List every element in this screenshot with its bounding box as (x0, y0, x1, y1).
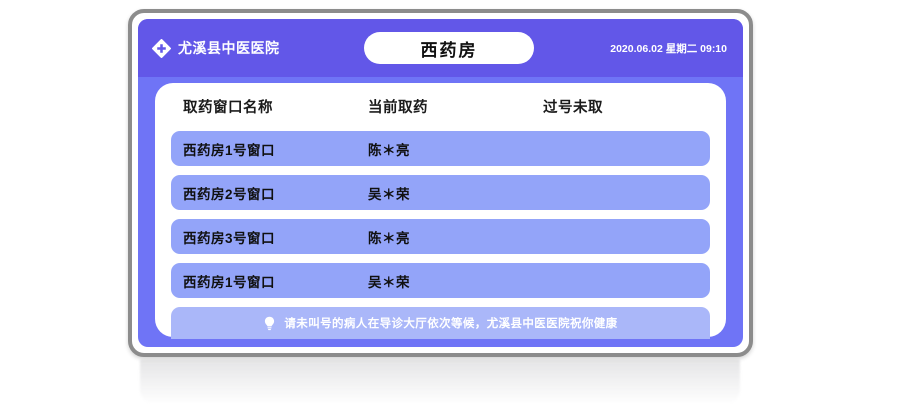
cell-window: 西药房2号窗口 (183, 183, 368, 203)
cell-current: 吴＊荣 (368, 271, 543, 291)
table-row: 西药房2号窗口 吴＊荣 (171, 175, 710, 210)
cell-window: 西药房3号窗口 (183, 227, 368, 247)
light-bulb-icon (263, 316, 276, 331)
table-row: 西药房1号窗口 吴＊荣 (171, 263, 710, 298)
cell-window: 西药房1号窗口 (183, 271, 368, 291)
column-header-missed: 过号未取 (543, 96, 698, 117)
footer-notice-bar: 请未叫号的病人在导诊大厅依次等候，尤溪县中医医院祝你健康 (171, 307, 710, 339)
queue-rows-list: 西药房1号窗口 陈＊亮 西药房2号窗口 吴＊荣 西药房3号窗口 陈＊亮 西药房1… (171, 129, 710, 298)
top-header-bar: 尤溪县中医医院 西药房 2020.06.02 星期二 09:10 (138, 19, 743, 77)
footer-notice-text: 请未叫号的病人在导诊大厅依次等候，尤溪县中医医院祝你健康 (284, 315, 617, 331)
cell-current: 陈＊亮 (368, 139, 543, 159)
table-row: 西药房3号窗口 陈＊亮 (171, 219, 710, 254)
table-row: 西药房1号窗口 陈＊亮 (171, 131, 710, 166)
display-device-frame: 尤溪县中医医院 西药房 2020.06.02 星期二 09:10 取药窗口名称 … (128, 9, 753, 357)
cell-window: 西药房1号窗口 (183, 139, 368, 159)
queue-content-card: 取药窗口名称 当前取药 过号未取 西药房1号窗口 陈＊亮 西药房2号窗口 吴＊荣… (155, 83, 726, 337)
table-column-headers: 取药窗口名称 当前取药 过号未取 (171, 83, 710, 129)
queue-display-screen: 尤溪县中医医院 西药房 2020.06.02 星期二 09:10 取药窗口名称 … (138, 19, 743, 347)
hospital-name: 尤溪县中医医院 (178, 38, 280, 58)
department-title-pill: 西药房 (364, 32, 534, 64)
hospital-brand: 尤溪县中医医院 (152, 38, 352, 58)
datetime-display: 2020.06.02 星期二 09:10 (534, 41, 729, 56)
column-header-window: 取药窗口名称 (183, 96, 368, 117)
cell-current: 吴＊荣 (368, 183, 543, 203)
device-reflection (140, 360, 740, 404)
column-header-current: 当前取药 (368, 96, 543, 117)
cell-current: 陈＊亮 (368, 227, 543, 247)
medical-cross-diamond-icon (152, 39, 171, 58)
